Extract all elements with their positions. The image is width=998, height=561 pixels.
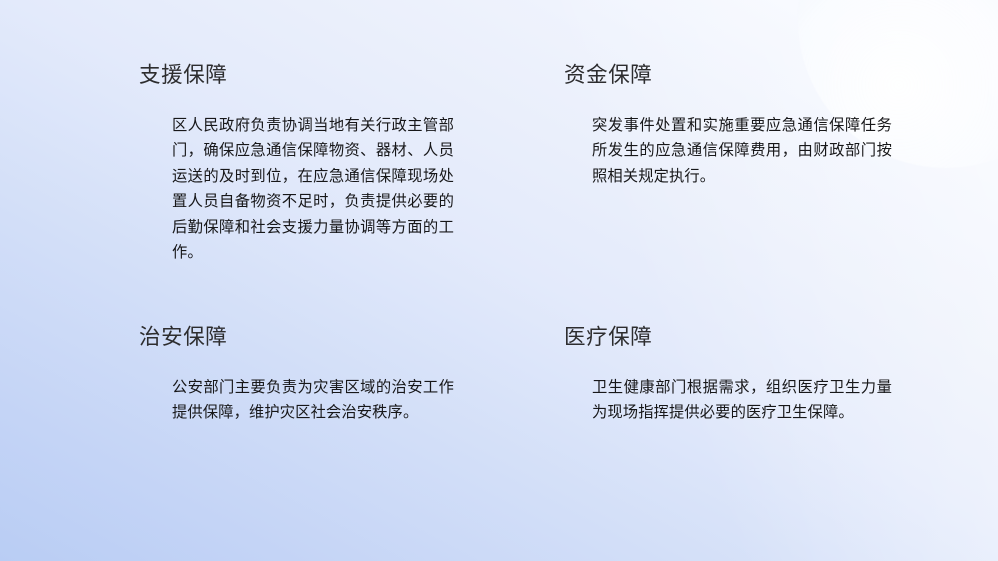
section-body-medical-guarantee: 卫生健康部门根据需求，组织医疗卫生力量为现场指挥提供必要的医疗卫生保障。 [592, 375, 892, 426]
section-medical-guarantee: 医疗保障 卫生健康部门根据需求，组织医疗卫生力量为现场指挥提供必要的医疗卫生保障… [564, 322, 989, 561]
section-body-support-guarantee: 区人民政府负责协调当地有关行政主管部门，确保应急通信保障物资、器材、人员运送的及… [172, 113, 454, 265]
section-body-public-security-guarantee: 公安部门主要负责为灾害区域的治安工作提供保障，维护灾区社会治安秩序。 [172, 375, 454, 426]
section-body-funding-guarantee: 突发事件处置和实施重要应急通信保障任务所发生的应急通信保障费用，由财政部门按照相… [592, 113, 892, 189]
section-heading-public-security-guarantee: 治安保障 [139, 322, 564, 352]
content-grid: 支援保障 区人民政府负责协调当地有关行政主管部门，确保应急通信保障物资、器材、人… [0, 0, 998, 561]
section-support-guarantee: 支援保障 区人民政府负责协调当地有关行政主管部门，确保应急通信保障物资、器材、人… [139, 60, 564, 322]
section-heading-medical-guarantee: 医疗保障 [564, 322, 989, 352]
section-funding-guarantee: 资金保障 突发事件处置和实施重要应急通信保障任务所发生的应急通信保障费用，由财政… [564, 60, 989, 322]
section-heading-support-guarantee: 支援保障 [139, 60, 564, 90]
slide-canvas: 支援保障 区人民政府负责协调当地有关行政主管部门，确保应急通信保障物资、器材、人… [0, 0, 998, 561]
section-heading-funding-guarantee: 资金保障 [564, 60, 989, 90]
section-public-security-guarantee: 治安保障 公安部门主要负责为灾害区域的治安工作提供保障，维护灾区社会治安秩序。 [139, 322, 564, 561]
